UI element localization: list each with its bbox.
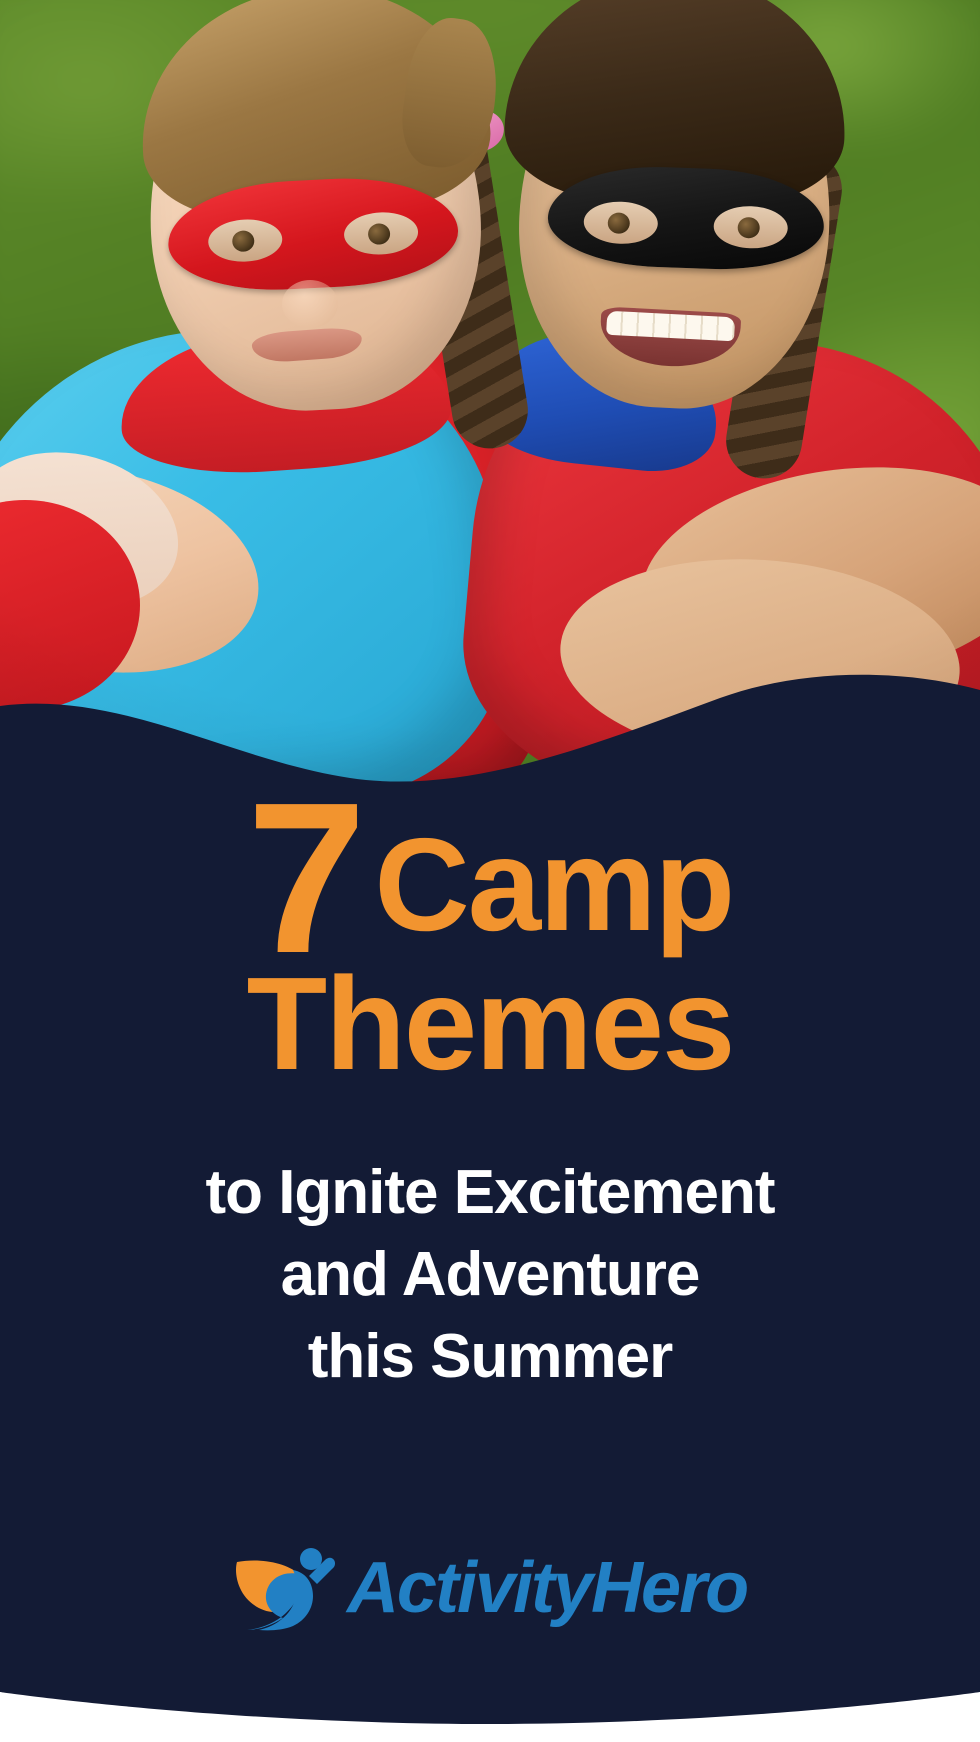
subhead-line-1: to Ignite Excitement bbox=[52, 1152, 928, 1234]
brand-logo[interactable]: ActivityHero bbox=[0, 1540, 980, 1636]
headline-word-camp: Camp bbox=[374, 811, 733, 958]
headline-line-2: Themes bbox=[40, 959, 940, 1088]
pin-graphic: 7Camp Themes to Ignite Excitement and Ad… bbox=[0, 0, 980, 1742]
brand-wordmark: ActivityHero bbox=[347, 1552, 747, 1624]
hero-photo bbox=[0, 0, 980, 790]
headline-line-1: 7Camp bbox=[40, 798, 940, 957]
activityhero-swoosh-icon bbox=[233, 1540, 337, 1636]
subhead-line-2: and Adventure bbox=[52, 1234, 928, 1316]
content-block: 7Camp Themes to Ignite Excitement and Ad… bbox=[0, 760, 980, 1398]
page-title: 7Camp Themes bbox=[0, 798, 980, 1088]
photo-vignette bbox=[0, 0, 980, 790]
subhead-line-3: this Summer bbox=[52, 1316, 928, 1398]
page-subtitle: to Ignite Excitement and Adventure this … bbox=[0, 1152, 980, 1397]
